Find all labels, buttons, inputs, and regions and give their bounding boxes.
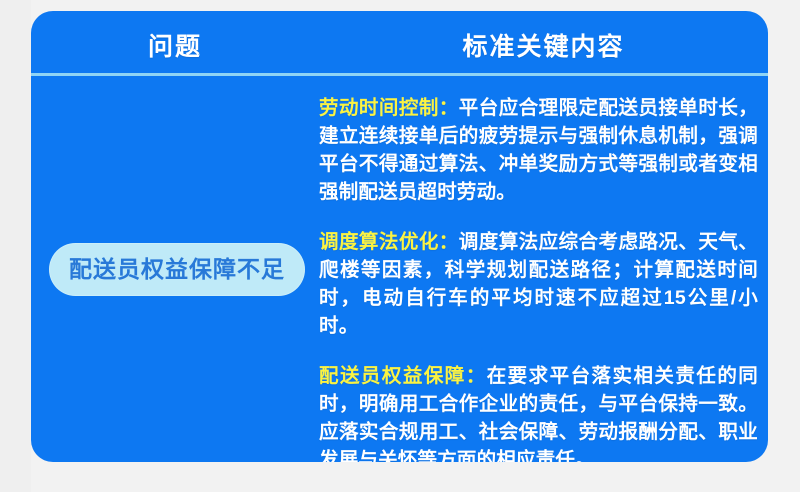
standard-paragraph: 调度算法优化：调度算法应综合考虑路况、天气、爬楼等因素，科学规划配送路径；计算配… <box>319 228 758 340</box>
header-column-issue: 问题 <box>31 27 319 63</box>
card-body: 配送员权益保障不足 劳动时间控制：平台应合理限定配送员接单时长，建立连续接单后的… <box>31 76 768 462</box>
card-header: 问题 标准关键内容 <box>31 11 768 73</box>
standard-paragraph: 劳动时间控制：平台应合理限定配送员接单时长，建立连续接单后的疲劳提示与强制休息机… <box>319 94 758 206</box>
standard-term: 配送员权益保障： <box>319 365 487 387</box>
standard-term: 调度算法优化： <box>319 231 459 253</box>
standards-column: 劳动时间控制：平台应合理限定配送员接单时长，建立连续接单后的疲劳提示与强制休息机… <box>319 76 768 462</box>
page-root: 问题 标准关键内容 配送员权益保障不足 劳动时间控制：平台应合理限定配送员接单时… <box>0 0 800 492</box>
issue-chip: 配送员权益保障不足 <box>49 243 305 296</box>
standard-term: 劳动时间控制： <box>319 97 459 119</box>
standard-item: 配送员权益保障：在要求平台落实相关责任的同时，明确用工合作企业的责任，与平台保持… <box>319 362 758 462</box>
standard-item: 劳动时间控制：平台应合理限定配送员接单时长，建立连续接单后的疲劳提示与强制休息机… <box>319 94 758 206</box>
left-gutter <box>0 0 31 492</box>
standard-item: 调度算法优化：调度算法应综合考虑路况、天气、爬楼等因素，科学规划配送路径；计算配… <box>319 228 758 340</box>
standard-paragraph: 配送员权益保障：在要求平台落实相关责任的同时，明确用工合作企业的责任，与平台保持… <box>319 362 758 462</box>
header-column-standard: 标准关键内容 <box>319 27 768 63</box>
issue-column: 配送员权益保障不足 <box>31 76 319 462</box>
standards-card: 问题 标准关键内容 配送员权益保障不足 劳动时间控制：平台应合理限定配送员接单时… <box>31 11 768 462</box>
